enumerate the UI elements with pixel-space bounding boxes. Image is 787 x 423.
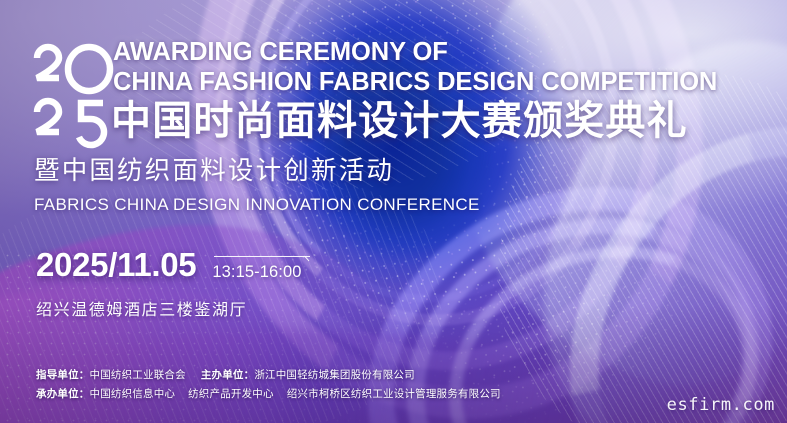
- event-date-time-row: 2025/11.05 13:15-16:00: [36, 248, 302, 281]
- credit-line: 指导单位：中国纺织工业联合会主办单位：浙江中国轻纺城集团股份有限公司: [36, 366, 501, 385]
- credit-label: 承办单位：: [36, 388, 90, 400]
- time-rule-decoration: [214, 256, 310, 257]
- credit-value: 绍兴市柯桥区纺织工业设计管理服务有限公司: [287, 388, 501, 400]
- credit-line: 承办单位：中国纺织信息中心纺织产品开发中心绍兴市柯桥区纺织工业设计管理服务有限公…: [36, 385, 501, 404]
- credits-block: 指导单位：中国纺织工业联合会主办单位：浙江中国轻纺城集团股份有限公司承办单位：中…: [36, 366, 501, 404]
- credit-label: 主办单位：: [201, 369, 255, 381]
- subtitle-chinese: 暨中国纺织面料设计创新活动: [34, 156, 480, 186]
- credit-value: 浙江中国轻纺城集团股份有限公司: [254, 369, 415, 381]
- year-2025-logo: [33, 41, 117, 149]
- year-2025-logo-glyphs: [33, 41, 117, 149]
- event-time-wrapper: 13:15-16:00: [212, 253, 301, 282]
- headline-block: AWARDING CEREMONY OF CHINA FASHION FABRI…: [113, 38, 717, 143]
- site-watermark: esfirm.com: [667, 395, 775, 415]
- event-date: 2025/11.05: [36, 248, 196, 281]
- headline-english-line-2: CHINA FASHION FABRICS DESIGN COMPETITION: [113, 68, 717, 98]
- headline-english-line-1: AWARDING CEREMONY OF: [113, 38, 717, 68]
- headline-chinese: 中国时尚面料设计大赛颁奖典礼: [111, 100, 717, 143]
- subtitle-english: FABRICS CHINA DESIGN INNOVATION CONFEREN…: [34, 195, 480, 215]
- credit-value: 中国纺织工业联合会: [90, 369, 186, 381]
- event-banner: AWARDING CEREMONY OF CHINA FASHION FABRI…: [0, 0, 787, 423]
- event-time: 13:15-16:00: [212, 264, 301, 281]
- banner-content: AWARDING CEREMONY OF CHINA FASHION FABRI…: [0, 0, 787, 423]
- subtitle-block: 暨中国纺织面料设计创新活动 FABRICS CHINA DESIGN INNOV…: [34, 156, 480, 215]
- credit-group: 主办单位：浙江中国轻纺城集团股份有限公司: [201, 369, 415, 381]
- event-details-block: 2025/11.05 13:15-16:00 绍兴温德姆酒店三楼鉴湖厅: [36, 248, 302, 320]
- credit-group: 指导单位：中国纺织工业联合会: [36, 369, 186, 381]
- credit-value: 中国纺织信息中心: [90, 388, 176, 400]
- credit-value: 纺织产品开发中心: [188, 388, 274, 400]
- credit-group: 承办单位：中国纺织信息中心纺织产品开发中心绍兴市柯桥区纺织工业设计管理服务有限公…: [36, 388, 501, 400]
- event-venue: 绍兴温德姆酒店三楼鉴湖厅: [36, 296, 302, 320]
- credit-label: 指导单位：: [36, 369, 90, 381]
